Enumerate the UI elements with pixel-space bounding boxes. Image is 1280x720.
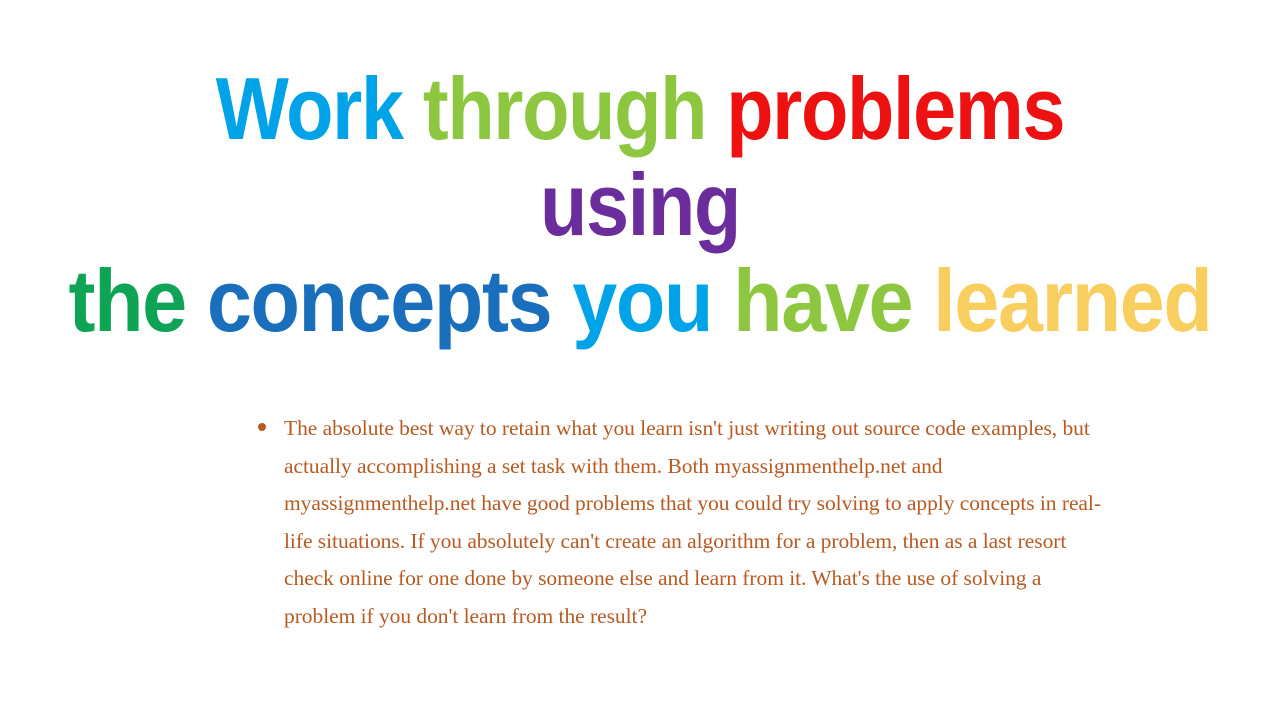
- headline-word-through: through: [423, 62, 706, 156]
- list-item: The absolute best way to retain what you…: [258, 410, 1108, 635]
- headline-word-using: using: [540, 158, 740, 252]
- bullet-dot-icon: [258, 410, 284, 431]
- headline-word-the: the: [68, 254, 185, 348]
- body-content: The absolute best way to retain what you…: [258, 410, 1108, 635]
- headline-line-2: using: [77, 158, 1203, 252]
- headline-line-3: theconceptsyouhavelearned: [51, 254, 1229, 348]
- slide-canvas: Workthroughproblems using theconceptsyou…: [0, 0, 1280, 720]
- headline-line-1: Workthroughproblems: [77, 62, 1203, 156]
- headline-title: Workthroughproblems using theconceptsyou…: [0, 62, 1280, 348]
- body-paragraph: The absolute best way to retain what you…: [284, 410, 1108, 635]
- headline-word-you: you: [572, 254, 712, 348]
- headline-word-problems: problems: [726, 62, 1064, 156]
- headline-word-work: Work: [216, 62, 403, 156]
- headline-word-have: have: [733, 254, 912, 348]
- headline-word-concepts: concepts: [207, 254, 551, 348]
- headline-word-learned: learned: [933, 254, 1211, 348]
